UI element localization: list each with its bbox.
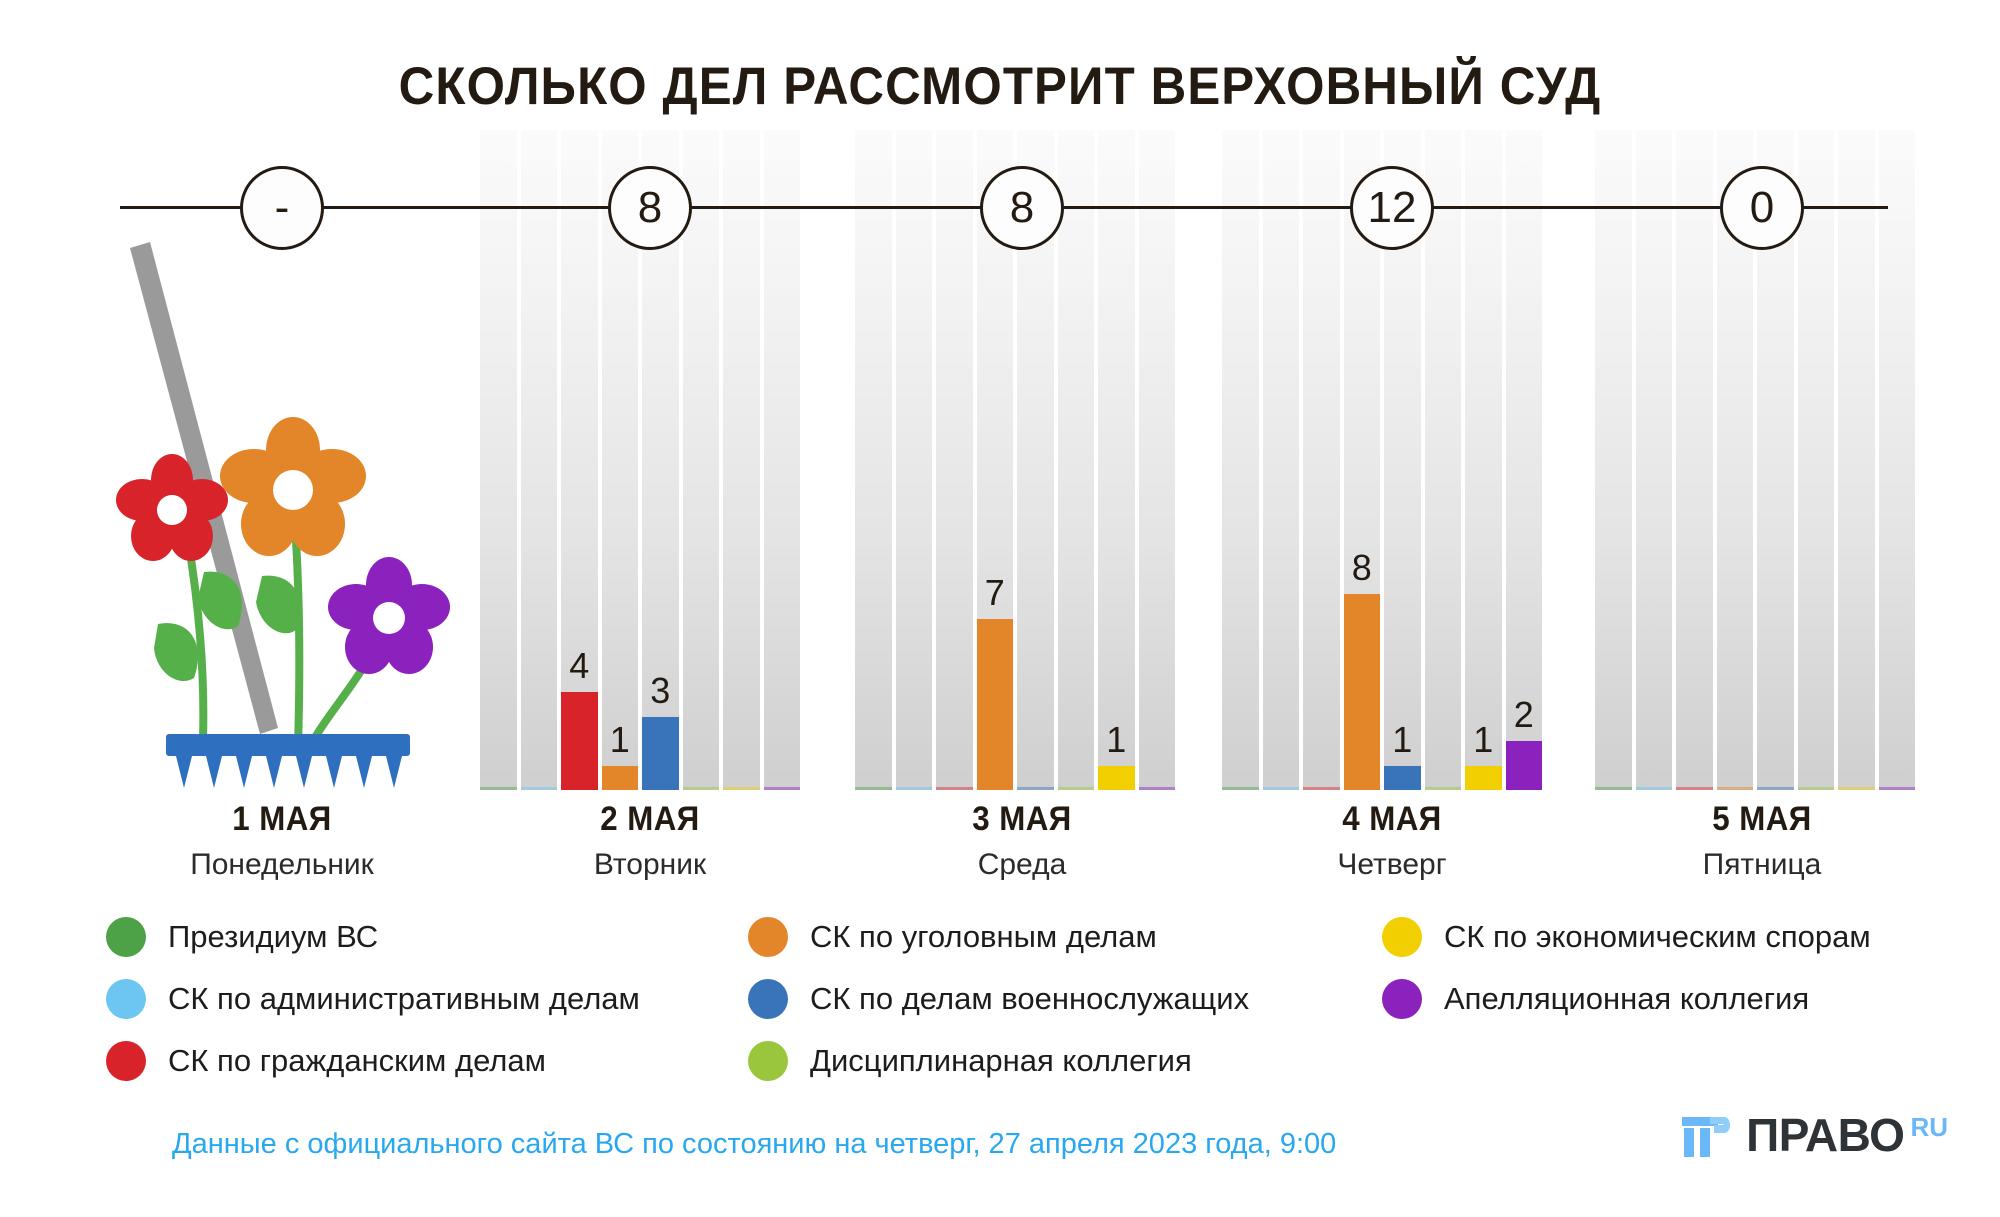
legend-item-appeal[interactable]: Апелляционная коллегия [1382,977,1809,1021]
legend-color-dot [748,1041,788,1081]
legend-label: СК по экономическим спорам [1444,919,1871,955]
day-weekday: Понедельник [122,848,442,882]
category-stripe [936,130,973,790]
category-stripe: 1 [1098,130,1135,790]
stripe-color-foot [1636,787,1673,790]
bar-value-label: 1 [1384,722,1421,758]
stripe-color-foot [521,787,558,790]
stripe-color-foot [1263,787,1300,790]
category-stripe [1058,130,1095,790]
legend-item-civil[interactable]: СК по гражданским делам [106,1039,546,1083]
bar [602,766,639,791]
legend: Президиум ВССК по административным делам… [0,915,2000,1095]
flower-purple-icon [328,557,450,674]
category-stripe [1636,130,1673,790]
stripe-color-foot [1676,787,1713,790]
timeline-node[interactable]: 8 [608,166,692,250]
legend-label: СК по делам военнослужащих [810,981,1249,1017]
leaves-icon [154,572,300,681]
day-weekday: Четверг [1232,848,1552,882]
legend-color-dot [748,979,788,1019]
legend-label: СК по уголовным делам [810,919,1157,955]
stripe-color-foot [1838,787,1875,790]
bar [1098,766,1135,791]
category-stripe [1838,130,1875,790]
bar [1384,766,1421,791]
rake-head-icon [166,734,410,788]
page-title: СКОЛЬКО ДЕЛ РАССМОТРИТ ВЕРХОВНЫЙ СУД [70,56,1930,117]
category-stripe [1879,130,1916,790]
bar [642,717,679,791]
timeline-node[interactable]: 12 [1350,166,1434,250]
bar-value-label: 1 [602,722,639,758]
pravo-ru-logo[interactable]: ПРАВО RU [1680,1108,1948,1162]
stripe-color-foot [1139,787,1176,790]
legend-color-dot [1382,917,1422,957]
stripe-color-foot [1222,787,1259,790]
logo-suffix: RU [1910,1112,1948,1143]
legend-color-dot [106,917,146,957]
category-stripe: 1 [1465,130,1502,790]
bar-value-label: 7 [977,575,1014,611]
category-stripe [764,130,801,790]
bar-value-label: 2 [1506,697,1543,733]
stripe-color-foot [1595,787,1632,790]
stripe-color-foot [896,787,933,790]
bar [1344,594,1381,790]
logo-name: ПРАВО [1746,1108,1904,1162]
legend-item-disciplinary[interactable]: Дисциплинарная коллегия [748,1039,1192,1083]
day-label: 2 МАЯВторник [490,800,810,882]
legend-item-military[interactable]: СК по делам военнослужащих [748,977,1249,1021]
stripe-color-foot [1798,787,1835,790]
bar [1465,766,1502,791]
timeline-node[interactable]: 8 [980,166,1064,250]
stripe-color-foot [1058,787,1095,790]
bar [977,619,1014,791]
legend-item-criminal[interactable]: СК по уголовным делам [748,915,1157,959]
stripe-color-foot [855,787,892,790]
day-date: 1 МАЯ [135,800,429,839]
category-stripe [683,130,720,790]
bar-value-label: 8 [1344,550,1381,586]
legend-color-dot [1382,979,1422,1019]
stripe-color-foot [480,787,517,790]
legend-item-presidium[interactable]: Президиум ВС [106,915,378,959]
category-stripe [1425,130,1462,790]
legend-label: СК по гражданским делам [168,1043,546,1079]
category-stripe [1595,130,1632,790]
stripe-color-foot [936,787,973,790]
timeline-node[interactable]: - [240,166,324,250]
day-label: 1 МАЯПонедельник [122,800,442,882]
day-date: 5 МАЯ [1615,800,1909,839]
legend-color-dot [748,917,788,957]
category-stripe [896,130,933,790]
stripe-color-foot [1303,787,1340,790]
category-stripe [1303,130,1340,790]
bar-value-label: 3 [642,673,679,709]
category-stripe [1263,130,1300,790]
stripe-color-foot [1879,787,1916,790]
legend-label: Апелляционная коллегия [1444,981,1809,1017]
day-label: 5 МАЯПятница [1602,800,1922,882]
category-stripe [1139,130,1176,790]
stripe-color-foot [1425,787,1462,790]
legend-color-dot [106,1041,146,1081]
legend-label: Президиум ВС [168,919,378,955]
timeline-node[interactable]: 0 [1720,166,1804,250]
legend-label: СК по административным делам [168,981,640,1017]
stripe-color-foot [683,787,720,790]
day-date: 3 МАЯ [875,800,1169,839]
flower-orange-icon [220,417,366,556]
bar-value-label: 4 [561,648,598,684]
day-label: 3 МАЯСреда [862,800,1182,882]
day-weekday: Среда [862,848,1182,882]
category-stripe [723,130,760,790]
day-weekday: Пятница [1602,848,1922,882]
stripe-color-foot [1017,787,1054,790]
day-date: 2 МАЯ [503,800,797,839]
category-stripe: 2 [1506,130,1543,790]
bar [1506,741,1543,790]
stripe-color-foot [723,787,760,790]
day-label: 4 МАЯЧетверг [1232,800,1552,882]
category-stripe [1222,130,1259,790]
category-stripe [521,130,558,790]
stripe-color-foot [1717,787,1754,790]
category-stripe [480,130,517,790]
flower-red-icon [116,454,228,561]
category-stripe [855,130,892,790]
day-date: 4 МАЯ [1245,800,1539,839]
category-stripe: 4 [561,130,598,790]
category-stripe [1676,130,1713,790]
legend-label: Дисциплинарная коллегия [810,1043,1192,1079]
rake-and-flowers-illustration [110,240,470,790]
category-stripe [1798,130,1835,790]
source-note: Данные с официального сайта ВС по состоя… [172,1128,1336,1161]
stripe-color-foot [764,787,801,790]
bar-value-label: 1 [1465,722,1502,758]
pravo-mark-icon [1680,1111,1734,1159]
bar-value-label: 1 [1098,722,1135,758]
day-weekday: Вторник [490,848,810,882]
bar [561,692,598,790]
legend-color-dot [106,979,146,1019]
legend-item-administrative[interactable]: СК по административным делам [106,977,640,1021]
legend-item-economic[interactable]: СК по экономическим спорам [1382,915,1871,959]
stripe-color-foot [1757,787,1794,790]
